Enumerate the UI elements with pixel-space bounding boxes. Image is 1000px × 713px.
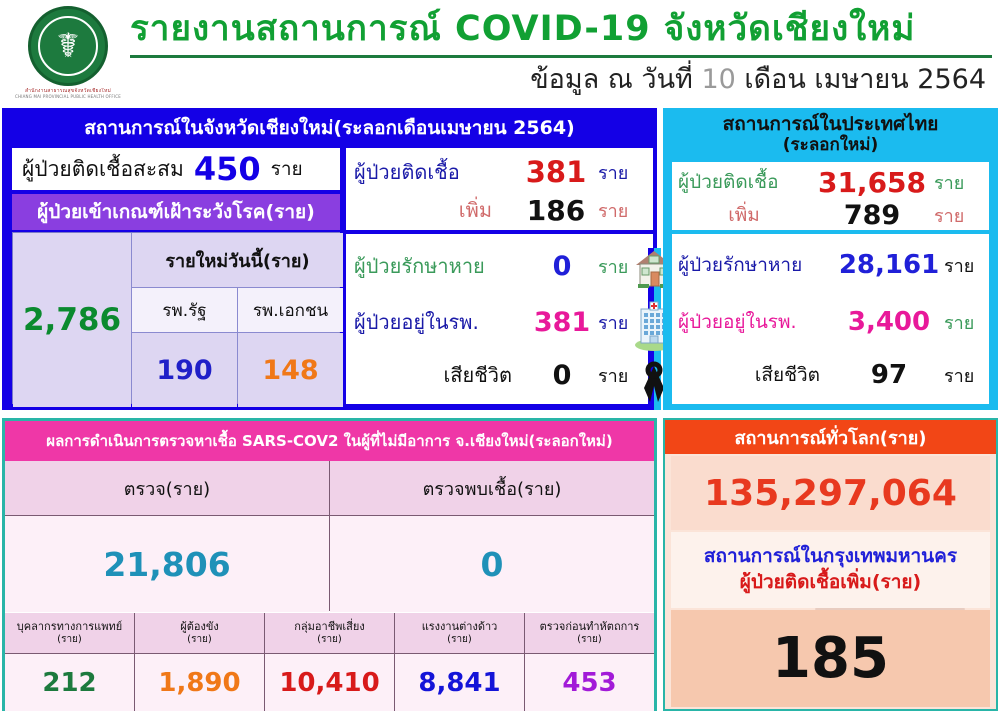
thailand-recovered-label: ผู้ป่วยรักษาหาย xyxy=(678,250,834,280)
caduceus-icon: ☤ xyxy=(38,16,98,76)
accumulated-label: ผู้ป่วยติดเชื้อสะสม xyxy=(22,153,184,186)
chiangmai-increase-label: เพิ่ม xyxy=(354,194,514,226)
thailand-infected-unit: ราย xyxy=(934,168,964,197)
thailand-inhospital-label: ผู้ป่วยอยู่ในรพ. xyxy=(678,307,834,337)
chiangmai-recovered-unit: ราย xyxy=(598,252,628,281)
thailand-title-main: สถานการณ์ในประเทศไทย xyxy=(723,114,939,136)
pui-table: 2,786 รายใหม่วันนี้(ราย) รพ.รัฐ รพ.เอกชน… xyxy=(12,232,340,404)
thailand-infected-label: ผู้ป่วยติดเชื้อ xyxy=(678,167,810,197)
category-value-pre-procedure: 453 xyxy=(525,654,654,711)
chiangmai-deaths-row: เสียชีวิต 0 ราย xyxy=(354,350,645,400)
thailand-increase-value: 789 xyxy=(810,200,934,231)
category-value-migrant-workers: 8,841 xyxy=(395,654,524,711)
thailand-title-sub: (ระลอกใหม่) xyxy=(783,136,878,156)
thailand-infected-value: 31,658 xyxy=(810,166,934,199)
thailand-increase-label: เพิ่ม xyxy=(678,200,810,230)
category-unit-detainees: (ราย) xyxy=(187,634,212,646)
category-label-medical-staff: บุคลากรทางการแพทย์ xyxy=(17,620,122,633)
thailand-status-card: ผู้ป่วยรักษาหาย 28,161 ราย ผู้ป่วยอยู่ใน… xyxy=(672,234,989,404)
chiangmai-panel: สถานการณ์ในจังหวัดเชียงใหม่(ระลอกเดือนเม… xyxy=(2,108,657,410)
chiangmai-accumulated-row: ผู้ป่วยติดเชื้อสะสม 450 ราย xyxy=(12,148,340,190)
category-label-migrant-workers: แรงงานต่างด้าว xyxy=(422,620,498,633)
thailand-inhospital-value: 3,400 xyxy=(834,307,944,337)
chiangmai-increase-value: 186 xyxy=(514,194,598,227)
category-unit-risk-occupations: (ราย) xyxy=(317,634,342,646)
chiangmai-inhospital-label: ผู้ป่วยอยู่ในรพ. xyxy=(354,306,526,338)
date-month-label: เดือน xyxy=(744,64,805,95)
chiangmai-deaths-label: เสียชีวิต xyxy=(354,359,526,391)
category-label-risk-occupations: กลุ่มอาชีพเสี่ยง xyxy=(294,620,364,633)
accumulated-unit: ราย xyxy=(271,154,303,184)
chiangmai-infected-row: ผู้ป่วยติดเชื้อ 381 ราย xyxy=(354,152,645,192)
pui-total-value: 2,786 xyxy=(13,233,131,407)
title-divider xyxy=(130,55,992,58)
thailand-increase-unit: ราย xyxy=(934,201,964,230)
category-unit-pre-procedure: (ราย) xyxy=(577,634,602,646)
pui-gov-label: รพ.รัฐ xyxy=(132,288,237,332)
chiangmai-status-card: ผู้ป่วยรักษาหาย 0 ราย ผู้ป่วยอยู่ในรพ. 3… xyxy=(346,234,653,404)
category-unit-medical-staff: (ราย) xyxy=(57,634,82,646)
bangkok-subtitle: ผู้ป่วยติดเชื้อเพิ่ม(ราย) xyxy=(740,570,921,596)
logo-caption-english: CHIANG MAI PROVINCIAL PUBLIC HEALTH OFFI… xyxy=(14,94,122,99)
chiangmai-recovered-label: ผู้ป่วยรักษาหาย xyxy=(354,250,526,282)
pui-gov-value: 190 xyxy=(132,333,237,407)
page-title: รายงานสถานการณ์ COVID-19 จังหวัดเชียงใหม… xyxy=(130,8,992,52)
thailand-panel-title: สถานการณ์ในประเทศไทย (ระลอกใหม่) xyxy=(665,110,996,160)
category-header-pre-procedure: ตรวจก่อนทำหัตถการ (ราย) xyxy=(525,613,654,653)
chiangmai-infected-label: ผู้ป่วยติดเชื้อ xyxy=(354,156,514,188)
chiangmai-inhospital-row: ผู้ป่วยอยู่ในรพ. 381 ราย xyxy=(354,294,645,350)
page-header: ☤ สำนักงานสาธารณสุขจังหวัดเชียงใหม่ CHIA… xyxy=(0,0,1000,108)
accumulated-value: 450 xyxy=(194,150,261,188)
category-header-risk-occupations: กลุ่มอาชีพเสี่ยง (ราย) xyxy=(265,613,394,653)
category-value-medical-staff: 212 xyxy=(5,654,134,711)
thailand-deaths-value: 97 xyxy=(834,360,944,390)
category-header-migrant-workers: แรงงานต่างด้าว (ราย) xyxy=(395,613,524,653)
category-header-detainees: ผู้ต้องขัง (ราย) xyxy=(135,613,264,653)
chiangmai-increase-row: เพิ่ม 186 ราย xyxy=(354,192,645,228)
chiangmai-recovered-value: 0 xyxy=(526,251,598,282)
thailand-recovered-unit: ราย xyxy=(944,251,974,280)
chiangmai-inhospital-value: 381 xyxy=(526,307,598,338)
testing-value-positive: 0 xyxy=(330,516,654,612)
thailand-recovered-value: 28,161 xyxy=(834,250,944,280)
ministry-logo-wrap: ☤ สำนักงานสาธารณสุขจังหวัดเชียงใหม่ CHIA… xyxy=(14,4,124,104)
thailand-cases-card: ผู้ป่วยติดเชื้อ 31,658 ราย เพิ่ม 789 ราย xyxy=(672,162,989,230)
date-month: เมษายน xyxy=(814,64,908,95)
testing-panel: ผลการดำเนินการตรวจหาเชื้อ SARS-COV2 ในผู… xyxy=(2,418,657,711)
testing-summary-table: ตรวจ(ราย) ตรวจพบเชื้อ(ราย) 21,806 0 xyxy=(5,461,654,611)
chiangmai-cases-card: ผู้ป่วยติดเชื้อ 381 ราย เพิ่ม 186 ราย xyxy=(346,148,653,230)
category-value-detainees: 1,890 xyxy=(135,654,264,711)
pui-new-today-header: รายใหม่วันนี้(ราย) xyxy=(132,233,343,287)
bangkok-title: สถานการณ์ในกรุงเทพมหานคร xyxy=(704,544,957,570)
date-prefix: ข้อมูล ณ วันที่ xyxy=(530,64,693,95)
covid-dashboard: ☤ สำนักงานสาธารณสุขจังหวัดเชียงใหม่ CHIA… xyxy=(0,0,1000,713)
thailand-inhospital-row: ผู้ป่วยอยู่ในรพ. 3,400 ราย xyxy=(678,294,983,350)
report-date: ข้อมูล ณ วันที่ 10 เดือน เมษายน 2564 xyxy=(130,60,992,101)
date-year: 2564 xyxy=(917,64,986,95)
category-value-risk-occupations: 10,410 xyxy=(265,654,394,711)
category-header-medical-staff: บุคลากรทางการแพทย์ (ราย) xyxy=(5,613,134,653)
chiangmai-panel-title: สถานการณ์ในจังหวัดเชียงใหม่(ระลอกเดือนเม… xyxy=(4,110,655,146)
ministry-of-public-health-logo-icon: ☤ xyxy=(28,6,108,86)
chiangmai-inhospital-unit: ราย xyxy=(598,308,628,337)
thailand-infected-row: ผู้ป่วยติดเชื้อ 31,658 ราย xyxy=(678,164,983,200)
testing-value-tested: 21,806 xyxy=(5,516,329,612)
thailand-inhospital-unit: ราย xyxy=(944,308,974,337)
bangkok-new-cases-value: 185 xyxy=(671,610,990,707)
logo-caption: สำนักงานสาธารณสุขจังหวัดเชียงใหม่ CHIANG… xyxy=(14,88,122,99)
chiangmai-deaths-unit: ราย xyxy=(598,361,628,390)
category-label-pre-procedure: ตรวจก่อนทำหัตถการ xyxy=(540,620,640,633)
thailand-panel: สถานการณ์ในประเทศไทย (ระลอกใหม่) ผู้ป่วย… xyxy=(663,108,998,410)
testing-col-header-positive: ตรวจพบเชื้อ(ราย) xyxy=(330,461,654,515)
testing-col-header-tested: ตรวจ(ราย) xyxy=(5,461,329,515)
pui-private-value: 148 xyxy=(238,333,343,407)
thailand-recovered-row: ผู้ป่วยรักษาหาย 28,161 ราย xyxy=(678,236,983,294)
testing-panel-title: ผลการดำเนินการตรวจหาเชื้อ SARS-COV2 ในผู… xyxy=(5,421,654,461)
bangkok-header: สถานการณ์ในกรุงเทพมหานคร ผู้ป่วยติดเชื้อ… xyxy=(671,532,990,608)
global-panel-title: สถานการณ์ทั่วโลก(ราย) xyxy=(665,420,996,454)
pui-section-header: ผู้ป่วยเข้าเกณฑ์เฝ้าระวังโรค(ราย) xyxy=(12,194,340,230)
category-unit-migrant-workers: (ราย) xyxy=(447,634,472,646)
chiangmai-infected-value: 381 xyxy=(514,155,598,189)
global-total-value: 135,297,064 xyxy=(671,456,990,530)
chiangmai-deaths-value: 0 xyxy=(526,360,598,391)
chiangmai-increase-unit: ราย xyxy=(598,196,628,225)
chiangmai-infected-unit: ราย xyxy=(598,158,628,187)
chiangmai-recovered-row: ผู้ป่วยรักษาหาย 0 ราย xyxy=(354,238,645,294)
thailand-increase-row: เพิ่ม 789 ราย xyxy=(678,200,983,230)
date-day: 10 xyxy=(701,64,735,95)
thailand-deaths-label: เสียชีวิต xyxy=(678,360,834,390)
pui-private-label: รพ.เอกชน xyxy=(238,288,343,332)
global-bangkok-panel: สถานการณ์ทั่วโลก(ราย) 135,297,064 สถานกา… xyxy=(663,418,998,711)
thailand-deaths-unit: ราย xyxy=(944,361,974,390)
thailand-deaths-row: เสียชีวิต 97 ราย xyxy=(678,350,983,400)
category-label-detainees: ผู้ต้องขัง xyxy=(180,620,218,633)
testing-categories-table: บุคลากรทางการแพทย์ (ราย) ผู้ต้องขัง (ราย… xyxy=(5,613,654,711)
